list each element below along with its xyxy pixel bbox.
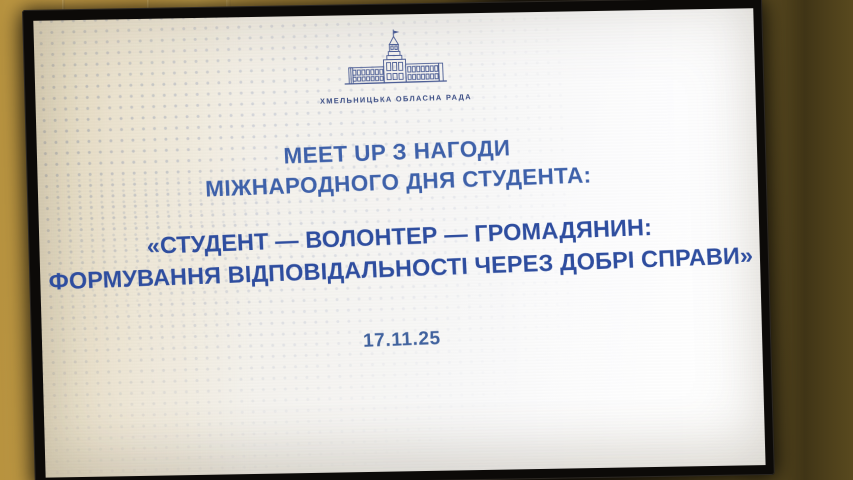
- display-screen: ХМЕЛЬНИЦЬКА ОБЛАСНА РАДА MEET UP З НАГОД…: [33, 8, 765, 477]
- council-building-icon: [329, 27, 459, 93]
- logo-caption: ХМЕЛЬНИЦЬКА ОБЛАСНА РАДА: [320, 92, 472, 106]
- slide-date-text: 17.11.25: [363, 328, 442, 353]
- screenshot-stage: ХМЕЛЬНИЦЬКА ОБЛАСНА РАДА MEET UP З НАГОД…: [0, 0, 853, 480]
- slide-date: 17.11.25: [363, 328, 442, 353]
- organization-logo: ХМЕЛЬНИЦЬКА ОБЛАСНА РАДА: [317, 26, 472, 105]
- slide-title: MEET UP З НАГОДИ МІЖНАРОДНОГО ДНЯ СТУДЕН…: [203, 130, 592, 203]
- slide-subtitle: «СТУДЕНТ — ВОЛОНТЕР — ГРОМАДЯНИН: ФОРМУВ…: [46, 208, 753, 299]
- presentation-slide: ХМЕЛЬНИЦЬКА ОБЛАСНА РАДА MEET UP З НАГОД…: [33, 8, 765, 477]
- wall-mounted-display: ХМЕЛЬНИЦЬКА ОБЛАСНА РАДА MEET UP З НАГОД…: [22, 0, 775, 480]
